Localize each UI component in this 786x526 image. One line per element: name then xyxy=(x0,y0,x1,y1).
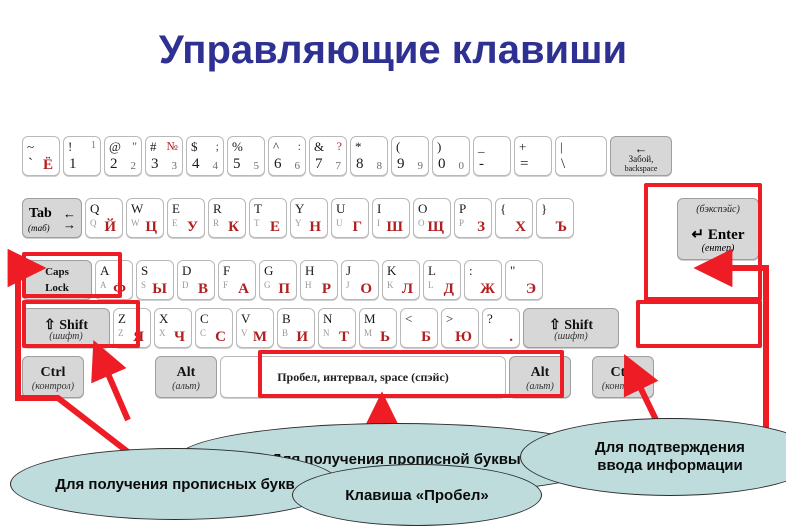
key-glyph-cyrillic: С xyxy=(215,330,226,345)
key-i[interactable]: IIШ xyxy=(372,198,410,238)
key-glyph-shift: + xyxy=(519,140,526,153)
key-g[interactable]: GGП xyxy=(259,260,297,300)
key-4[interactable]: $ 4 ; 4 xyxy=(186,136,224,176)
key-k[interactable]: KKЛ xyxy=(382,260,420,300)
key-p[interactable]: PPЗ xyxy=(454,198,492,238)
key-glyph-cyrillic: Э xyxy=(526,282,536,297)
key-glyph-latin: ? xyxy=(487,312,493,325)
key-alt-left[interactable]: Alt (альт) xyxy=(155,356,217,398)
highlight-shift-left xyxy=(22,300,140,348)
backspace-label-ru: Забой, xyxy=(611,154,671,164)
ctrl-right-translit: (контрол) xyxy=(593,381,653,392)
key-glyph-latin-small: L xyxy=(428,281,434,290)
key-quote[interactable]: "Э xyxy=(505,260,543,300)
key-glyph-cyrillic: З xyxy=(477,220,485,235)
key-glyph-latin: O xyxy=(418,202,427,215)
key-period[interactable]: >Ю xyxy=(441,308,479,348)
callout-enter-line2: ввода информации xyxy=(597,457,742,474)
key-glyph-cyrillic: Г xyxy=(352,220,362,235)
ctrl-left-label: Ctrl xyxy=(23,365,83,381)
key-m[interactable]: MMЬ xyxy=(359,308,397,348)
key-glyph-latin: U xyxy=(336,202,345,215)
key-glyph-tiny: 2 xyxy=(131,161,137,172)
key-d[interactable]: DDВ xyxy=(177,260,215,300)
key-backslash[interactable]: | \ xyxy=(555,136,607,176)
key-glyph-latin: L xyxy=(428,264,436,277)
backspace-label-en: backspace xyxy=(611,164,671,173)
callout-enter-line1: Для подтверждения xyxy=(595,439,745,456)
key-glyph-base: 1 xyxy=(69,157,77,172)
highlight-caps-lock xyxy=(22,252,122,298)
key-glyph-cyrillic: " xyxy=(132,140,137,152)
key-tilde-yo[interactable]: ~ ` Ё xyxy=(22,136,60,176)
key-glyph-latin: } xyxy=(541,202,547,215)
key-glyph-base: 4 xyxy=(192,157,200,172)
key-glyph-latin: M xyxy=(364,312,376,325)
key-glyph-latin-small: D xyxy=(182,281,189,290)
key-w[interactable]: WWЦ xyxy=(126,198,164,238)
key-glyph-shift: ~ xyxy=(27,140,34,153)
key-glyph-cyrillic: ; xyxy=(216,140,219,152)
key-glyph-latin-small: O xyxy=(418,219,425,228)
key-glyph-cyrillic: Ж xyxy=(480,282,495,297)
key-glyph-tiny: 3 xyxy=(172,161,178,172)
key-9[interactable]: ( 9 9 xyxy=(391,136,429,176)
ctrl-right-label: Ctrl xyxy=(593,365,653,381)
key-glyph-cyrillic: Ы xyxy=(152,282,167,297)
key-glyph-base: 9 xyxy=(397,157,405,172)
callout-caps-text: Для получения прописных букв xyxy=(55,476,294,493)
key-3[interactable]: # 3 № 3 xyxy=(145,136,183,176)
key-5[interactable]: % 5 5 xyxy=(227,136,265,176)
slide-canvas: Управляющие клавиши ~ ` Ё ! xyxy=(0,0,786,516)
key-glyph-base: 8 xyxy=(356,157,364,172)
key-glyph-latin: Y xyxy=(295,202,304,215)
key-glyph-base: = xyxy=(520,157,528,172)
key-q[interactable]: QQЙ xyxy=(85,198,123,238)
key-glyph-cyrillic: Ь xyxy=(380,330,390,345)
highlight-space xyxy=(258,350,564,398)
key-glyph-latin-small: E xyxy=(172,219,178,228)
key-o[interactable]: OOЩ xyxy=(413,198,451,238)
key-0[interactable]: ) 0 0 xyxy=(432,136,470,176)
key-glyph-latin: G xyxy=(264,264,273,277)
key-glyph-shift: _ xyxy=(478,140,485,153)
key-glyph-base: 5 xyxy=(233,157,241,172)
key-glyph-latin: J xyxy=(346,264,351,277)
key-e[interactable]: EEУ xyxy=(167,198,205,238)
key-backspace[interactable]: ← Забой, backspace xyxy=(610,136,672,176)
key-comma[interactable]: <Б xyxy=(400,308,438,348)
key-glyph-latin: T xyxy=(254,202,262,215)
key-glyph-latin-small: T xyxy=(254,219,260,228)
key-glyph-shift: * xyxy=(355,140,362,153)
key-glyph-cyrillic: Д xyxy=(444,282,454,297)
key-2[interactable]: @ 2 " 2 xyxy=(104,136,142,176)
key-glyph-cyrillic: Ш xyxy=(387,220,403,235)
key-v[interactable]: VVМ xyxy=(236,308,274,348)
key-f[interactable]: FFА xyxy=(218,260,256,300)
key-glyph-cyrillic: Ё xyxy=(43,158,53,173)
key-glyph-latin-small: S xyxy=(141,281,146,290)
key-glyph-tiny: 4 xyxy=(213,161,219,172)
tab-translit: (таб) xyxy=(28,223,50,233)
tab-label: Tab xyxy=(29,206,52,222)
key-glyph-base: \ xyxy=(561,157,565,172)
key-glyph-latin: W xyxy=(131,202,143,215)
key-glyph-latin: : xyxy=(469,264,473,277)
key-glyph-shift: | xyxy=(560,140,563,153)
key-8[interactable]: * 8 8 xyxy=(350,136,388,176)
alt-left-translit: (альт) xyxy=(156,381,216,392)
callout-enter-text: Для подтверждения ввода информации xyxy=(595,439,745,475)
key-ctrl-right[interactable]: Ctrl (контрол) xyxy=(592,356,654,398)
key-glyph-latin-small: M xyxy=(364,329,372,338)
key-glyph-latin: X xyxy=(159,312,168,325)
key-shift-right[interactable]: ⇧ Shift (шифт) xyxy=(523,308,619,348)
key-glyph-cyrillic: . xyxy=(509,330,513,345)
key-glyph-latin: V xyxy=(241,312,250,325)
key-glyph-latin-small: Y xyxy=(295,219,302,228)
key-glyph-base: 6 xyxy=(274,157,282,172)
ctrl-left-translit: (контрол) xyxy=(23,381,83,392)
alt-left-label: Alt xyxy=(156,365,216,381)
key-glyph-base: 0 xyxy=(438,157,446,172)
callout-caps: Для получения прописных букв xyxy=(10,448,340,520)
key-glyph-latin: C xyxy=(200,312,209,325)
key-glyph-shift: # xyxy=(150,140,157,153)
key-glyph-shift: ! xyxy=(68,140,72,153)
key-glyph-cyrillic: А xyxy=(238,282,249,297)
key-glyph-cyrillic: Ю xyxy=(455,330,472,345)
key-glyph-cyrillic: : xyxy=(298,140,301,152)
key-glyph-latin: P xyxy=(459,202,466,215)
key-glyph-cyrillic: О xyxy=(360,282,372,297)
key-glyph-latin: E xyxy=(172,202,180,215)
key-bracket-left[interactable]: {Х xyxy=(495,198,533,238)
key-glyph-cyrillic: Х xyxy=(515,220,526,235)
key-glyph-shift: & xyxy=(314,140,324,153)
key-glyph-latin: S xyxy=(141,264,148,277)
callout-space-text: Клавиша «Пробел» xyxy=(345,487,488,504)
key-glyph-tiny: 6 xyxy=(295,161,301,172)
key-glyph-cyrillic: ? xyxy=(337,140,342,152)
key-glyph-latin-small: Q xyxy=(90,219,97,228)
key-glyph-base: 3 xyxy=(151,157,159,172)
keyboard-row-numbers: ~ ` Ё ! 1 1 @ 2 " 2 # 3 № 3 $ xyxy=(22,136,675,176)
key-glyph-tiny: 9 xyxy=(418,161,424,172)
key-glyph-latin: F xyxy=(223,264,230,277)
tab-right-arrow-icon: → xyxy=(63,217,76,232)
key-glyph-cyrillic: Н xyxy=(309,220,321,235)
key-glyph-cyrillic: Ч xyxy=(174,330,185,345)
key-tab[interactable]: Tab (таб) ← → xyxy=(22,198,82,238)
key-glyph-latin-small: P xyxy=(459,219,464,228)
key-glyph-tiny: 0 xyxy=(459,161,465,172)
key-glyph-cyrillic: Е xyxy=(270,220,280,235)
key-6[interactable]: ^ 6 : 6 xyxy=(268,136,306,176)
key-glyph-base: 7 xyxy=(315,157,323,172)
highlight-shift-right xyxy=(636,300,762,348)
key-glyph-cyrillic: К xyxy=(228,220,239,235)
key-c[interactable]: CCС xyxy=(195,308,233,348)
key-glyph-latin: R xyxy=(213,202,222,215)
key-glyph-latin-small: R xyxy=(213,219,219,228)
shift-right-translit: (шифт) xyxy=(524,331,618,342)
key-glyph-shift: @ xyxy=(109,140,121,153)
key-glyph-shift: $ xyxy=(191,140,198,153)
key-glyph-latin: B xyxy=(282,312,291,325)
key-u[interactable]: UUГ xyxy=(331,198,369,238)
key-glyph-latin: " xyxy=(510,264,515,277)
key-glyph-latin: N xyxy=(323,312,332,325)
key-glyph-tiny: 7 xyxy=(336,161,342,172)
key-glyph-latin-small: F xyxy=(223,281,228,290)
key-glyph-base: - xyxy=(479,157,484,172)
key-glyph-tiny: 5 xyxy=(254,161,260,172)
key-glyph-latin-small: I xyxy=(377,219,380,228)
key-glyph-cyrillic: Щ xyxy=(428,220,444,235)
key-h[interactable]: HHР xyxy=(300,260,338,300)
key-glyph-cyrillic: Й xyxy=(104,220,116,235)
key-glyph-latin-small: H xyxy=(305,281,312,290)
key-r[interactable]: RRК xyxy=(208,198,246,238)
key-glyph-latin-small: B xyxy=(282,329,288,338)
key-slash[interactable]: ?. xyxy=(482,308,520,348)
key-glyph-latin-small: G xyxy=(264,281,271,290)
key-glyph-cyrillic: Т xyxy=(339,330,349,345)
key-glyph-cyrillic: Ъ xyxy=(556,220,567,235)
key-glyph-cyrillic: В xyxy=(198,282,208,297)
key-glyph-latin: K xyxy=(387,264,396,277)
key-glyph-cyrillic: Ц xyxy=(145,220,157,235)
key-y[interactable]: YYН xyxy=(290,198,328,238)
key-n[interactable]: NNТ xyxy=(318,308,356,348)
key-glyph-tiny: 8 xyxy=(377,161,383,172)
key-glyph-cyrillic: П xyxy=(278,282,290,297)
key-glyph-latin-small: X xyxy=(159,329,166,338)
key-glyph-latin-small: W xyxy=(131,219,140,228)
key-glyph-latin: D xyxy=(182,264,191,277)
key-glyph-latin: > xyxy=(446,312,453,325)
key-glyph-cyrillic: У xyxy=(187,220,198,235)
key-bracket-right[interactable]: }Ъ xyxy=(536,198,574,238)
keyboard-row-qwerty: Tab (таб) ← → QQЙ WWЦ EEУ RRК TTЕ YYН UU… xyxy=(22,198,577,238)
key-glyph-base: 2 xyxy=(110,157,118,172)
key-glyph-latin-small: C xyxy=(200,329,206,338)
key-glyph-cyrillic: М xyxy=(253,330,267,345)
key-semicolon[interactable]: :Ж xyxy=(464,260,502,300)
key-glyph-shift: % xyxy=(232,140,243,153)
key-glyph-latin: { xyxy=(500,202,506,215)
key-glyph-latin-small: J xyxy=(346,281,350,290)
key-minus[interactable]: _ - xyxy=(473,136,511,176)
key-j[interactable]: JJО xyxy=(341,260,379,300)
highlight-enter xyxy=(644,183,762,301)
key-1[interactable]: ! 1 1 xyxy=(63,136,101,176)
key-glyph-latin: < xyxy=(405,312,412,325)
key-t[interactable]: TTЕ xyxy=(249,198,287,238)
key-s[interactable]: SSЫ xyxy=(136,260,174,300)
page-title: Управляющие клавиши xyxy=(0,28,786,73)
key-glyph-shift: ( xyxy=(396,140,400,153)
key-glyph-latin: I xyxy=(377,202,381,215)
key-glyph-latin: Q xyxy=(90,202,99,215)
key-glyph-latin-small: U xyxy=(336,219,343,228)
key-glyph-latin-small: K xyxy=(387,281,394,290)
key-glyph-latin-small: V xyxy=(241,329,248,338)
key-l[interactable]: LLД xyxy=(423,260,461,300)
key-glyph-latin-small: N xyxy=(323,329,330,338)
key-glyph-cyrillic: И xyxy=(296,330,308,345)
key-glyph-latin: H xyxy=(305,264,314,277)
key-glyph-cyrillic: Р xyxy=(322,282,331,297)
callout-enter: Для подтверждения ввода информации xyxy=(520,418,786,496)
key-glyph-shift: ^ xyxy=(273,140,279,153)
key-glyph-base: ` xyxy=(28,157,33,172)
key-x[interactable]: XXЧ xyxy=(154,308,192,348)
key-7[interactable]: & 7 ? 7 xyxy=(309,136,347,176)
key-glyph-cyrillic: Б xyxy=(421,330,431,345)
key-ctrl-left[interactable]: Ctrl (контрол) xyxy=(22,356,84,398)
key-equals[interactable]: + = xyxy=(514,136,552,176)
key-glyph-shift: ) xyxy=(437,140,441,153)
key-b[interactable]: BBИ xyxy=(277,308,315,348)
key-glyph-cyrillic: Л xyxy=(402,282,413,297)
callout-space: Клавиша «Пробел» xyxy=(292,464,542,526)
key-glyph-tiny: 1 xyxy=(91,141,96,151)
key-glyph-cyrillic: № xyxy=(167,140,178,152)
